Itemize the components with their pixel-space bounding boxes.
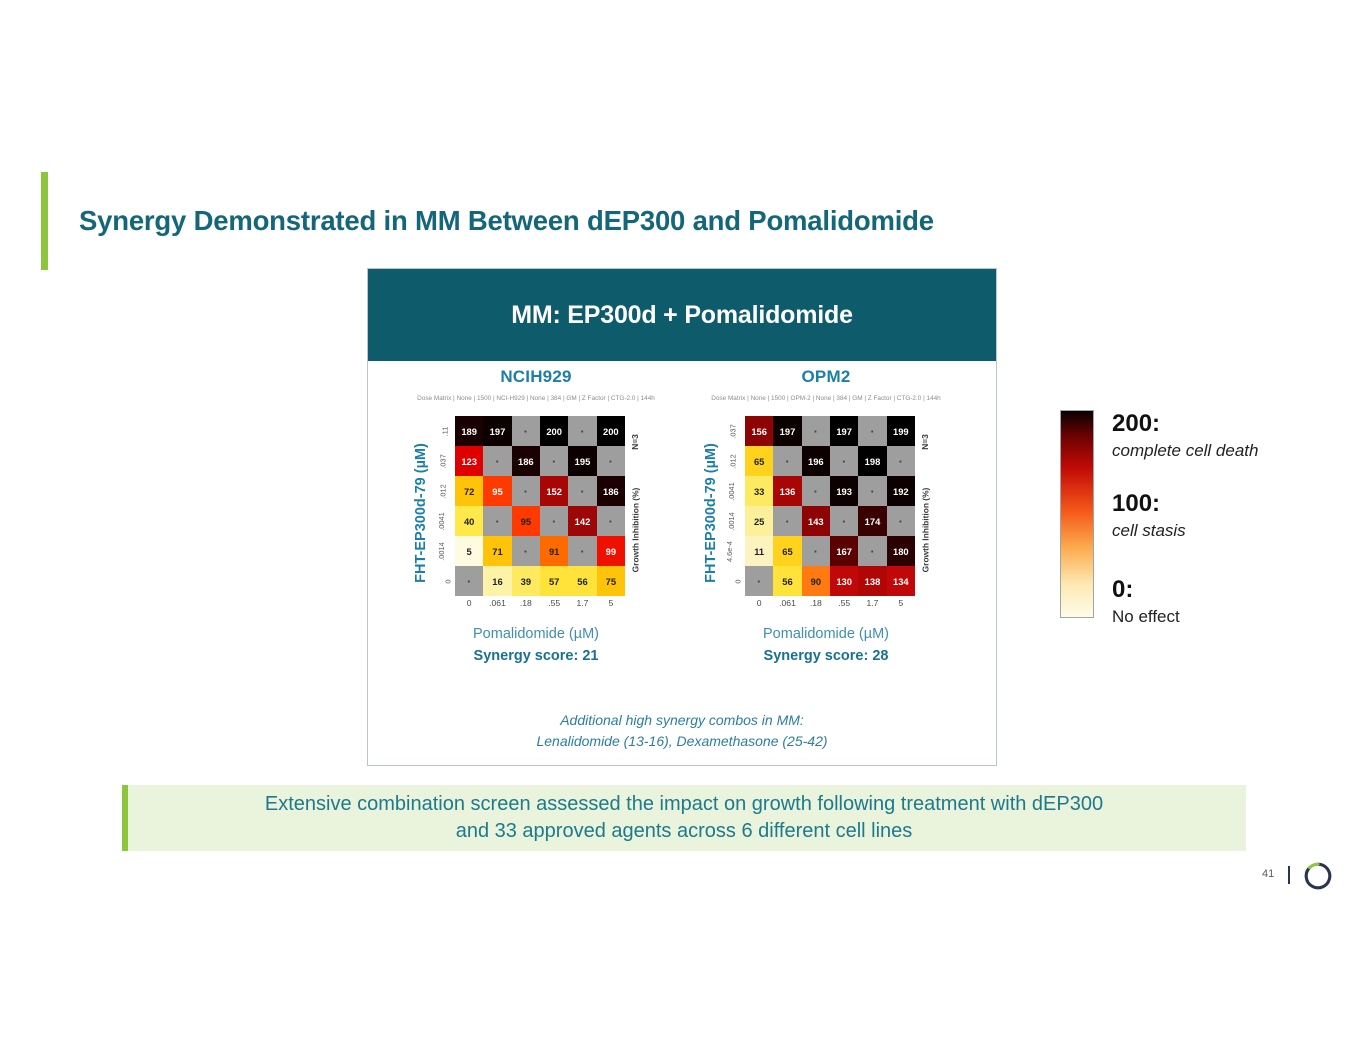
heatmap-cell: · (773, 506, 801, 536)
x-tick: 1.7 (858, 598, 886, 608)
heatmap-cell: · (802, 416, 830, 446)
y-axis-title-ncih929: FHT-EP300d-79 (µM) (412, 438, 430, 588)
heatmap-cell: · (745, 566, 773, 596)
callout-line-1: Extensive combination screen assessed th… (265, 791, 1103, 818)
legend-desc-200: complete cell death (1112, 441, 1258, 461)
legend-value-200: 200: (1112, 412, 1258, 436)
color-scale-gradient-bar (1060, 410, 1094, 618)
y-axis-ticks-ncih929: .11.037.012.0041.00140 (431, 416, 453, 596)
heatmap-cell: · (483, 446, 511, 476)
heatmap-cell: 167 (830, 536, 858, 566)
x-tick: .061 (773, 598, 801, 608)
heatmap-cell: 186 (512, 446, 540, 476)
heatmap-cell: 123 (455, 446, 483, 476)
right-axis-opm2: N=3 Growth Inhibition (%) (917, 420, 933, 596)
heatmap-cell: 197 (830, 416, 858, 446)
heatmap-cell: 65 (773, 536, 801, 566)
legend-entry-0: 0: No effect (1112, 578, 1180, 627)
footer-divider (1288, 866, 1290, 884)
heatmap-opm2: OPM2 Dose Matrix | None | 1500 | OPM-2 |… (704, 361, 948, 664)
figure-header-banner: MM: EP300d + Pomalidomide (368, 269, 996, 361)
y-tick: .037 (721, 416, 743, 446)
heatmap-cell: 130 (830, 566, 858, 596)
right-axis-title-ncih929: Growth Inhibition (%) (630, 488, 640, 573)
x-tick: 5 (887, 598, 915, 608)
heatmap-cell: 136 (773, 476, 801, 506)
legend-entry-200: 200: complete cell death (1112, 412, 1258, 461)
y-tick: 4.6e-4 (721, 536, 743, 566)
dose-matrix-metadata-opm2: Dose Matrix | None | 1500 | OPM-2 | None… (704, 394, 948, 412)
figure-footnote: Additional high synergy combos in MM: Le… (368, 710, 996, 751)
heatmap-cell: · (512, 416, 540, 446)
figure-header-title: MM: EP300d + Pomalidomide (511, 301, 853, 330)
heatmap-cell: 197 (483, 416, 511, 446)
heatmap-cell: 90 (802, 566, 830, 596)
y-axis-title-opm2: FHT-EP300d-79 (µM) (702, 438, 720, 588)
callout-line-2: and 33 approved agents across 6 differen… (456, 818, 913, 845)
heatmap-cell: 56 (773, 566, 801, 596)
x-tick: 5 (597, 598, 625, 608)
heatmap-cell: · (512, 476, 540, 506)
heatmap-cell: 40 (455, 506, 483, 536)
heatmap-ncih929: NCIH929 Dose Matrix | None | 1500 | NCI-… (414, 361, 658, 664)
heatmap-cell: · (540, 506, 568, 536)
heatmap-cell: 72 (455, 476, 483, 506)
heatmap-cell: · (802, 476, 830, 506)
synergy-score-opm2: Synergy score: 28 (704, 648, 948, 664)
heatmap-cell: · (773, 446, 801, 476)
footnote-line-2: Lenalidomide (13-16), Dexamethasone (25-… (368, 731, 996, 751)
heatmap-title-ncih929: NCIH929 (414, 367, 658, 387)
x-axis-ticks-opm2: 0.061.18.551.75 (745, 598, 915, 608)
heatmap-cell: 91 (540, 536, 568, 566)
legend-value-100: 100: (1112, 492, 1186, 516)
heatmap-cell: 189 (455, 416, 483, 446)
heatmap-cell: 199 (887, 416, 915, 446)
heatmap-cell: 200 (597, 416, 625, 446)
heatmap-cell: · (483, 506, 511, 536)
x-tick: .55 (540, 598, 568, 608)
heatmap-cell: 200 (540, 416, 568, 446)
heatmap-cell: 65 (745, 446, 773, 476)
y-tick: 0 (721, 566, 743, 596)
replicates-label-opm2: N=3 (920, 434, 930, 450)
x-tick: 0 (745, 598, 773, 608)
y-tick: .11 (431, 416, 453, 446)
heatmap-cell: 5 (455, 536, 483, 566)
y-tick: 0 (431, 566, 453, 596)
x-axis-title-opm2: Pomalidomide (µM) (704, 626, 948, 642)
heatmap-core-opm2: FHT-EP300d-79 (µM) .037.012.0041.00144.6… (704, 416, 948, 606)
x-tick: .55 (830, 598, 858, 608)
right-axis-ncih929: N=3 Growth Inhibition (%) (627, 420, 643, 596)
page-title: Synergy Demonstrated in MM Between dEP30… (79, 205, 934, 237)
synergy-score-ncih929: Synergy score: 21 (414, 648, 658, 664)
heatmap-cell: 39 (512, 566, 540, 596)
heatmap-cell: 95 (483, 476, 511, 506)
title-accent-bar (41, 172, 48, 270)
summary-callout: Extensive combination screen assessed th… (122, 785, 1246, 851)
x-axis-title-ncih929: Pomalidomide (µM) (414, 626, 658, 642)
legend-desc-0: No effect (1112, 607, 1180, 627)
heatmap-cell: · (858, 416, 886, 446)
figure-body: NCIH929 Dose Matrix | None | 1500 | NCI-… (368, 361, 996, 765)
y-tick: .037 (431, 446, 453, 476)
x-axis-ticks-ncih929: 0.061.18.551.75 (455, 598, 625, 608)
dose-matrix-metadata-ncih929: Dose Matrix | None | 1500 | NCI-H929 | N… (414, 394, 658, 412)
callout-accent-bar (122, 785, 128, 851)
callout-text: Extensive combination screen assessed th… (146, 785, 1222, 851)
figure-panel: MM: EP300d + Pomalidomide NCIH929 Dose M… (367, 268, 997, 766)
replicates-label-ncih929: N=3 (630, 434, 640, 450)
heatmap-cell: · (802, 536, 830, 566)
x-tick: .18 (512, 598, 540, 608)
y-tick: .012 (721, 446, 743, 476)
heatmap-cell: 143 (802, 506, 830, 536)
heatmap-cell: 193 (830, 476, 858, 506)
legend-entry-100: 100: cell stasis (1112, 492, 1186, 541)
heatmap-title-opm2: OPM2 (704, 367, 948, 387)
heatmap-cell: · (455, 566, 483, 596)
y-tick: .0014 (721, 506, 743, 536)
heatmap-cell: · (830, 506, 858, 536)
heatmap-cell: 71 (483, 536, 511, 566)
legend-value-0: 0: (1112, 578, 1180, 602)
heatmap-core-ncih929: FHT-EP300d-79 (µM) .11.037.012.0041.0014… (414, 416, 658, 606)
y-tick: .0041 (721, 476, 743, 506)
heatmap-cell: 57 (540, 566, 568, 596)
heatmap-cell: 95 (512, 506, 540, 536)
legend-desc-100: cell stasis (1112, 521, 1186, 541)
x-tick: 1.7 (568, 598, 596, 608)
y-tick: .012 (431, 476, 453, 506)
heatmap-cell: · (568, 416, 596, 446)
brand-logo-icon (1303, 861, 1333, 891)
heatmap-cell: 16 (483, 566, 511, 596)
heatmap-cell: 196 (802, 446, 830, 476)
heatmap-cell: 197 (773, 416, 801, 446)
color-scale-legend: 200: complete cell death 100: cell stasi… (1060, 408, 1335, 630)
heatmap-cell: · (830, 446, 858, 476)
y-tick: .0041 (431, 506, 453, 536)
heatmap-cell: 152 (540, 476, 568, 506)
heatmap-cell: · (512, 536, 540, 566)
page-number: 41 (1262, 868, 1274, 880)
heatmap-cell: 33 (745, 476, 773, 506)
x-tick: .18 (802, 598, 830, 608)
y-axis-ticks-opm2: .037.012.0041.00144.6e-40 (721, 416, 743, 596)
x-tick: .061 (483, 598, 511, 608)
heatmap-cell: 11 (745, 536, 773, 566)
heatmap-cell: · (540, 446, 568, 476)
right-axis-title-opm2: Growth Inhibition (%) (920, 488, 930, 573)
heatmap-cell: 25 (745, 506, 773, 536)
heatmap-cell: 156 (745, 416, 773, 446)
footnote-line-1: Additional high synergy combos in MM: (368, 710, 996, 730)
x-tick: 0 (455, 598, 483, 608)
y-tick: .0014 (431, 536, 453, 566)
